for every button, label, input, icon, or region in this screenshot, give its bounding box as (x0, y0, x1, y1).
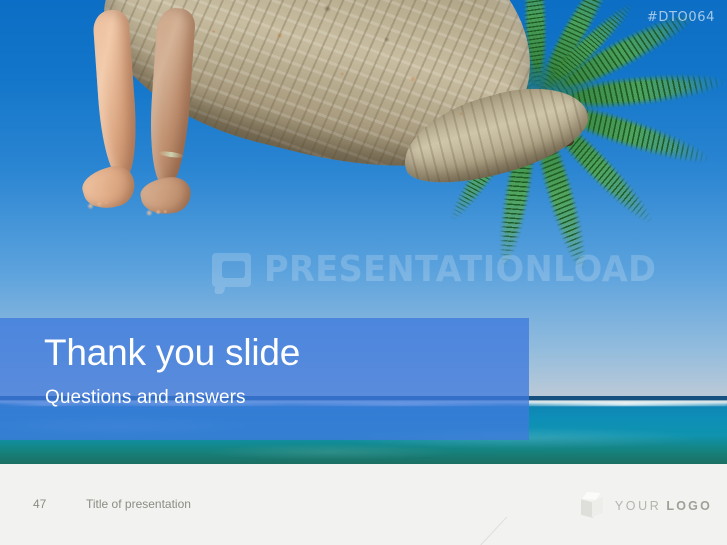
reference-code: #DTO064 (647, 10, 715, 25)
slide-title: Thank you slide (44, 334, 300, 371)
presentation-slide: PRESENTATIONLOAD #DTO064 Thank you slide… (0, 0, 727, 545)
logo-placeholder[interactable]: YOURLOGO (579, 492, 712, 519)
logo-word-logo: LOGO (666, 499, 712, 513)
logo-word-your: YOUR (615, 499, 662, 513)
logo-text: YOURLOGO (615, 497, 712, 515)
page-number: 47 (33, 497, 46, 511)
slide-subtitle: Questions and answers (45, 388, 246, 407)
footer-presentation-title: Title of presentation (86, 497, 191, 511)
footer-diagonal-line (0, 464, 507, 545)
cube-icon (579, 492, 604, 519)
